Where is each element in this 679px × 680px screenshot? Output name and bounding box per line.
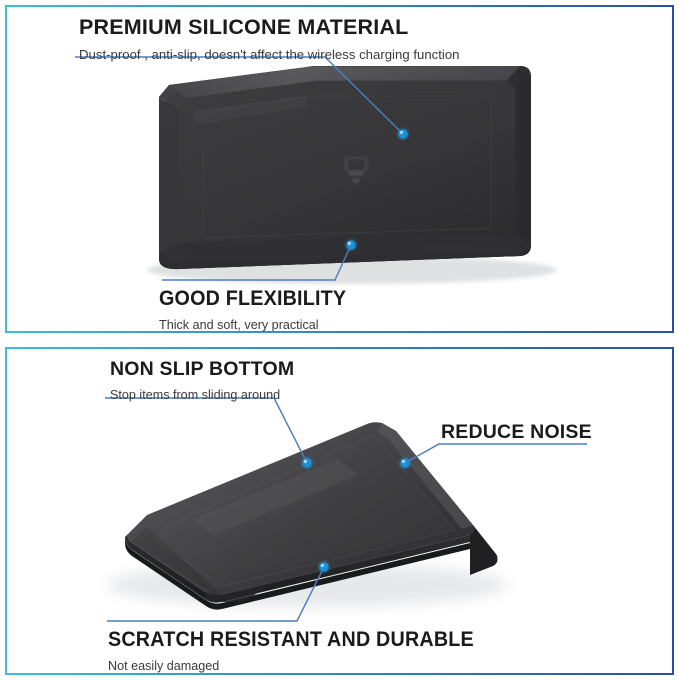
silicone-tray-bottom-view [7,349,672,673]
callout-non-slip-bottom: NON SLIP BOTTOM Stop items from sliding … [110,360,294,401]
heading-good-flexibility: GOOD FLEXIBILITY [159,288,346,309]
heading-scratch-resistant-and-durable: SCRATCH RESISTANT AND DURABLE [108,629,474,650]
subheading-non-slip-bottom: Stop items from sliding around [110,389,294,402]
callout-premium-silicone-material: PREMIUM SILICONE MATERIAL Dust-proof , a… [79,17,460,61]
callout-reduce-noise: REDUCE NOISE [441,423,592,443]
subheading-scratch-resistant-and-durable: Not easily damaged [108,660,497,673]
panel-bottom-content: NON SLIP BOTTOM Stop items from sliding … [7,349,672,673]
heading-non-slip-bottom: NON SLIP BOTTOM [110,360,294,380]
subheading-good-flexibility: Thick and soft, very practical [159,319,358,331]
subheading-premium-silicone-material: Dust-proof , anti-slip, doesn't affect t… [79,48,460,61]
infographic-canvas: PREMIUM SILICONE MATERIAL Dust-proof , a… [0,0,679,680]
heading-premium-silicone-material: PREMIUM SILICONE MATERIAL [79,17,460,39]
callout-scratch-resistant-and-durable: SCRATCH RESISTANT AND DURABLE Not easily… [108,629,497,673]
panel-top-content: PREMIUM SILICONE MATERIAL Dust-proof , a… [7,7,672,331]
callout-good-flexibility: GOOD FLEXIBILITY Thick and soft, very pr… [159,288,358,331]
non-slip-bottom-panel: NON SLIP BOTTOM Stop items from sliding … [5,347,674,675]
heading-reduce-noise: REDUCE NOISE [441,423,592,443]
premium-silicone-material-panel: PREMIUM SILICONE MATERIAL Dust-proof , a… [5,5,674,333]
